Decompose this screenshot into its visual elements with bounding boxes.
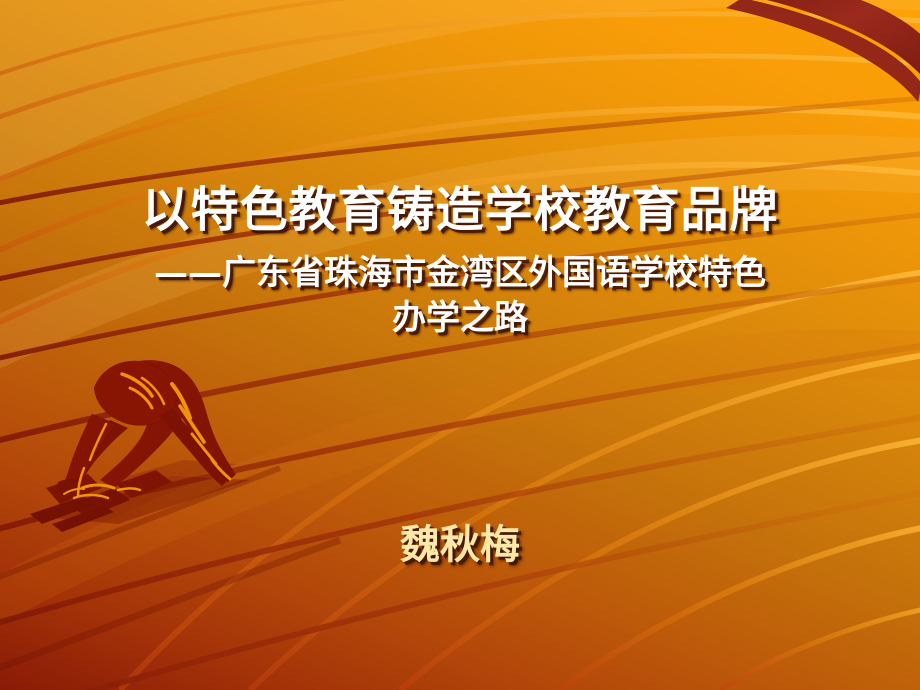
author-name: 魏秋梅 (0, 512, 920, 570)
page-subtitle-line-2: 办学之路 (60, 296, 860, 341)
presentation-slide: 以特色教育铸造学校教育品牌 ——广东省珠海市金湾区外国语学校特色 办学之路 魏秋… (0, 0, 920, 690)
page-subtitle-line-1: ——广东省珠海市金湾区外国语学校特色 (60, 251, 860, 296)
page-title: 以特色教育铸造学校教育品牌 (0, 182, 920, 239)
title-block: 以特色教育铸造学校教育品牌 ——广东省珠海市金湾区外国语学校特色 办学之路 (0, 182, 920, 340)
track-lane-group (0, 0, 920, 690)
sprinter-silhouette (22, 348, 282, 538)
page-subtitle: ——广东省珠海市金湾区外国语学校特色 办学之路 (0, 251, 920, 341)
running-track-lanes (0, 0, 920, 690)
